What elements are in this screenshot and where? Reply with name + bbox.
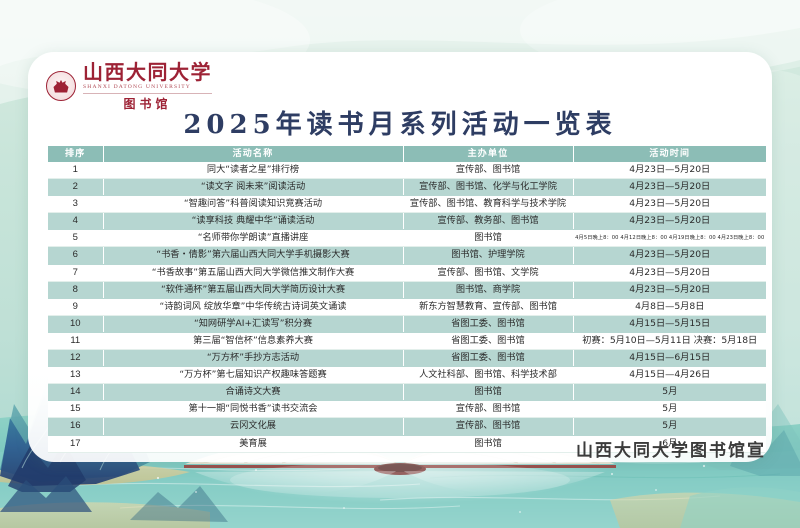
cell-activity-time: 4月23日—5月20日 <box>573 281 766 298</box>
university-seal-icon <box>46 71 76 101</box>
cell-activity-time: 4月23日—5月20日 <box>573 162 766 179</box>
cell-organizer: 省图工委、图书馆 <box>403 350 573 367</box>
cell-activity-name: “软件通杯”第五届山西大同大学简历设计大赛 <box>103 281 403 298</box>
cell-index: 2 <box>48 179 103 196</box>
cell-index: 14 <box>48 384 103 401</box>
university-name-cn: 山西大同大学 <box>83 62 212 82</box>
cell-activity-name: “书香故事”第五届山西大同大学微信推文制作大赛 <box>103 264 403 281</box>
logo-text-block: 山西大同大学 SHANXI DATONG UNIVERSITY 图书馆 <box>83 62 212 110</box>
cell-activity-time: 初赛：5月10日—5月11日 决赛：5月18日 <box>573 332 766 349</box>
cell-activity-name: 合诵诗文大赛 <box>103 384 403 401</box>
cell-activity-time: 4月5日晚上8：00 4月12日晚上8：00 4月19日晚上8：00 4月23日… <box>573 230 766 247</box>
cell-index: 1 <box>48 162 103 179</box>
cell-organizer: 宣传部、图书馆 <box>403 401 573 418</box>
cell-index: 3 <box>48 196 103 213</box>
cell-index: 16 <box>48 418 103 435</box>
cell-index: 10 <box>48 315 103 332</box>
cell-activity-time: 5月 <box>573 401 766 418</box>
cell-activity-name: “名师带你学朗读”直播讲座 <box>103 230 403 247</box>
table-body: 1同大“读者之星”排行榜宣传部、图书馆4月23日—5月20日2“读文字 阅未来”… <box>48 162 766 452</box>
cell-activity-time: 5月 <box>573 384 766 401</box>
cell-index: 9 <box>48 298 103 315</box>
table-row: 10“知网研学AI+汇读写”积分赛省图工委、图书馆4月15日—5月15日 <box>48 315 766 332</box>
table-head: 排序 活动名称 主办单位 活动时间 <box>48 146 766 162</box>
cell-organizer: 人文社科部、图书馆、科学技术部 <box>403 367 573 384</box>
cell-activity-time: 4月15日—4月26日 <box>573 367 766 384</box>
page-title: 2025年读书月系列活动一览表 <box>28 104 772 141</box>
cell-activity-name: 第十一期“同悦书香”读书交流会 <box>103 401 403 418</box>
cell-activity-time: 4月23日—5月20日 <box>573 179 766 196</box>
table-row: 7“书香故事”第五届山西大同大学微信推文制作大赛宣传部、图书馆、文学院4月23日… <box>48 264 766 281</box>
cell-organizer: 宣传部、图书馆、化学与化工学院 <box>403 179 573 196</box>
activities-table: 排序 活动名称 主办单位 活动时间 1同大“读者之星”排行榜宣传部、图书馆4月2… <box>48 146 766 453</box>
cell-activity-name: 云冈文化展 <box>103 418 403 435</box>
cell-index: 15 <box>48 401 103 418</box>
cell-organizer: 宣传部、图书馆、文学院 <box>403 264 573 281</box>
table-row: 16云冈文化展宣传部、图书馆5月 <box>48 418 766 435</box>
cell-activity-time: 4月8日—5月8日 <box>573 298 766 315</box>
cell-organizer: 新东方智慧教育、宣传部、图书馆 <box>403 298 573 315</box>
cell-organizer: 图书馆、商学院 <box>403 281 573 298</box>
cell-organizer: 宣传部、图书馆 <box>403 162 573 179</box>
cell-activity-time: 5月 <box>573 418 766 435</box>
cell-activity-name: “知网研学AI+汇读写”积分赛 <box>103 315 403 332</box>
cell-index: 17 <box>48 435 103 452</box>
table-row: 1同大“读者之星”排行榜宣传部、图书馆4月23日—5月20日 <box>48 162 766 179</box>
cell-activity-time: 4月15日—5月15日 <box>573 315 766 332</box>
cell-activity-name: “书香・倩影”第六届山西大同大学手机摄影大赛 <box>103 247 403 264</box>
table-row: 12“万方杯”手抄方志活动省图工委、图书馆4月15日—6月15日 <box>48 350 766 367</box>
table-row: 5“名师带你学朗读”直播讲座图书馆4月5日晚上8：00 4月12日晚上8：00 … <box>48 230 766 247</box>
cell-activity-name: 第三届“智信杯”信息素养大赛 <box>103 332 403 349</box>
cell-organizer: 宣传部、图书馆 <box>403 418 573 435</box>
cell-activity-name: “智趣问答”科普阅读知识竞赛活动 <box>103 196 403 213</box>
table-row: 13“万方杯”第七届知识产权趣味答题赛人文社科部、图书馆、科学技术部4月15日—… <box>48 367 766 384</box>
cell-organizer: 省图工委、图书馆 <box>403 315 573 332</box>
cell-index: 7 <box>48 264 103 281</box>
cell-activity-time: 4月23日—5月20日 <box>573 264 766 281</box>
cell-organizer: 图书馆 <box>403 230 573 247</box>
table-row: 3“智趣问答”科普阅读知识竞赛活动宣传部、图书馆、教育科学与技术学院4月23日—… <box>48 196 766 213</box>
cell-activity-time: 4月23日—5月20日 <box>573 213 766 230</box>
cell-index: 13 <box>48 367 103 384</box>
cell-activity-time: 4月23日—5月20日 <box>573 196 766 213</box>
table-row: 11第三届“智信杯”信息素养大赛省图工委、图书馆初赛：5月10日—5月11日 决… <box>48 332 766 349</box>
table-row: 6“书香・倩影”第六届山西大同大学手机摄影大赛图书馆、护理学院4月23日—5月2… <box>48 247 766 264</box>
cell-index: 8 <box>48 281 103 298</box>
table-row: 15第十一期“同悦书香”读书交流会宣传部、图书馆5月 <box>48 401 766 418</box>
column-header-time: 活动时间 <box>573 146 766 162</box>
cell-organizer: 宣传部、教务部、图书馆 <box>403 213 573 230</box>
cell-activity-name: “诗韵词风 绽放华章”中华传统古诗词英文诵读 <box>103 298 403 315</box>
table-row: 14合诵诗文大赛图书馆5月 <box>48 384 766 401</box>
cell-activity-name: “万方杯”手抄方志活动 <box>103 350 403 367</box>
cell-index: 5 <box>48 230 103 247</box>
cell-organizer: 图书馆、护理学院 <box>403 247 573 264</box>
cell-organizer: 图书馆 <box>403 435 573 452</box>
cell-activity-name: 同大“读者之星”排行榜 <box>103 162 403 179</box>
cell-activity-name: “读享科技 典耀中华”诵读活动 <box>103 213 403 230</box>
cell-organizer: 图书馆 <box>403 384 573 401</box>
activities-table-container: 排序 活动名称 主办单位 活动时间 1同大“读者之星”排行榜宣传部、图书馆4月2… <box>48 146 766 453</box>
university-name-en: SHANXI DATONG UNIVERSITY <box>83 85 212 94</box>
table-header-row: 排序 活动名称 主办单位 活动时间 <box>48 146 766 162</box>
cell-organizer: 宣传部、图书馆、教育科学与技术学院 <box>403 196 573 213</box>
table-row: 8“软件通杯”第五届山西大同大学简历设计大赛图书馆、商学院4月23日—5月20日 <box>48 281 766 298</box>
cell-index: 4 <box>48 213 103 230</box>
column-header-organizer: 主办单位 <box>403 146 573 162</box>
issuer-footer: 山西大同大学图书馆宣 <box>576 436 766 461</box>
table-row: 4“读享科技 典耀中华”诵读活动宣传部、教务部、图书馆4月23日—5月20日 <box>48 213 766 230</box>
cell-activity-time: 4月15日—6月15日 <box>573 350 766 367</box>
cell-index: 6 <box>48 247 103 264</box>
column-header-name: 活动名称 <box>103 146 403 162</box>
cell-index: 11 <box>48 332 103 349</box>
column-header-index: 排序 <box>48 146 103 162</box>
cell-organizer: 省图工委、图书馆 <box>403 332 573 349</box>
table-row: 2“读文字 阅未来”阅读活动宣传部、图书馆、化学与化工学院4月23日—5月20日 <box>48 179 766 196</box>
cell-activity-name: “万方杯”第七届知识产权趣味答题赛 <box>103 367 403 384</box>
university-logo: 山西大同大学 SHANXI DATONG UNIVERSITY 图书馆 <box>46 62 212 110</box>
cell-activity-name: “读文字 阅未来”阅读活动 <box>103 179 403 196</box>
cell-activity-time: 4月23日—5月20日 <box>573 247 766 264</box>
table-row: 9“诗韵词风 绽放华章”中华传统古诗词英文诵读新东方智慧教育、宣传部、图书馆4月… <box>48 298 766 315</box>
cell-index: 12 <box>48 350 103 367</box>
cell-activity-name: 美育展 <box>103 435 403 452</box>
